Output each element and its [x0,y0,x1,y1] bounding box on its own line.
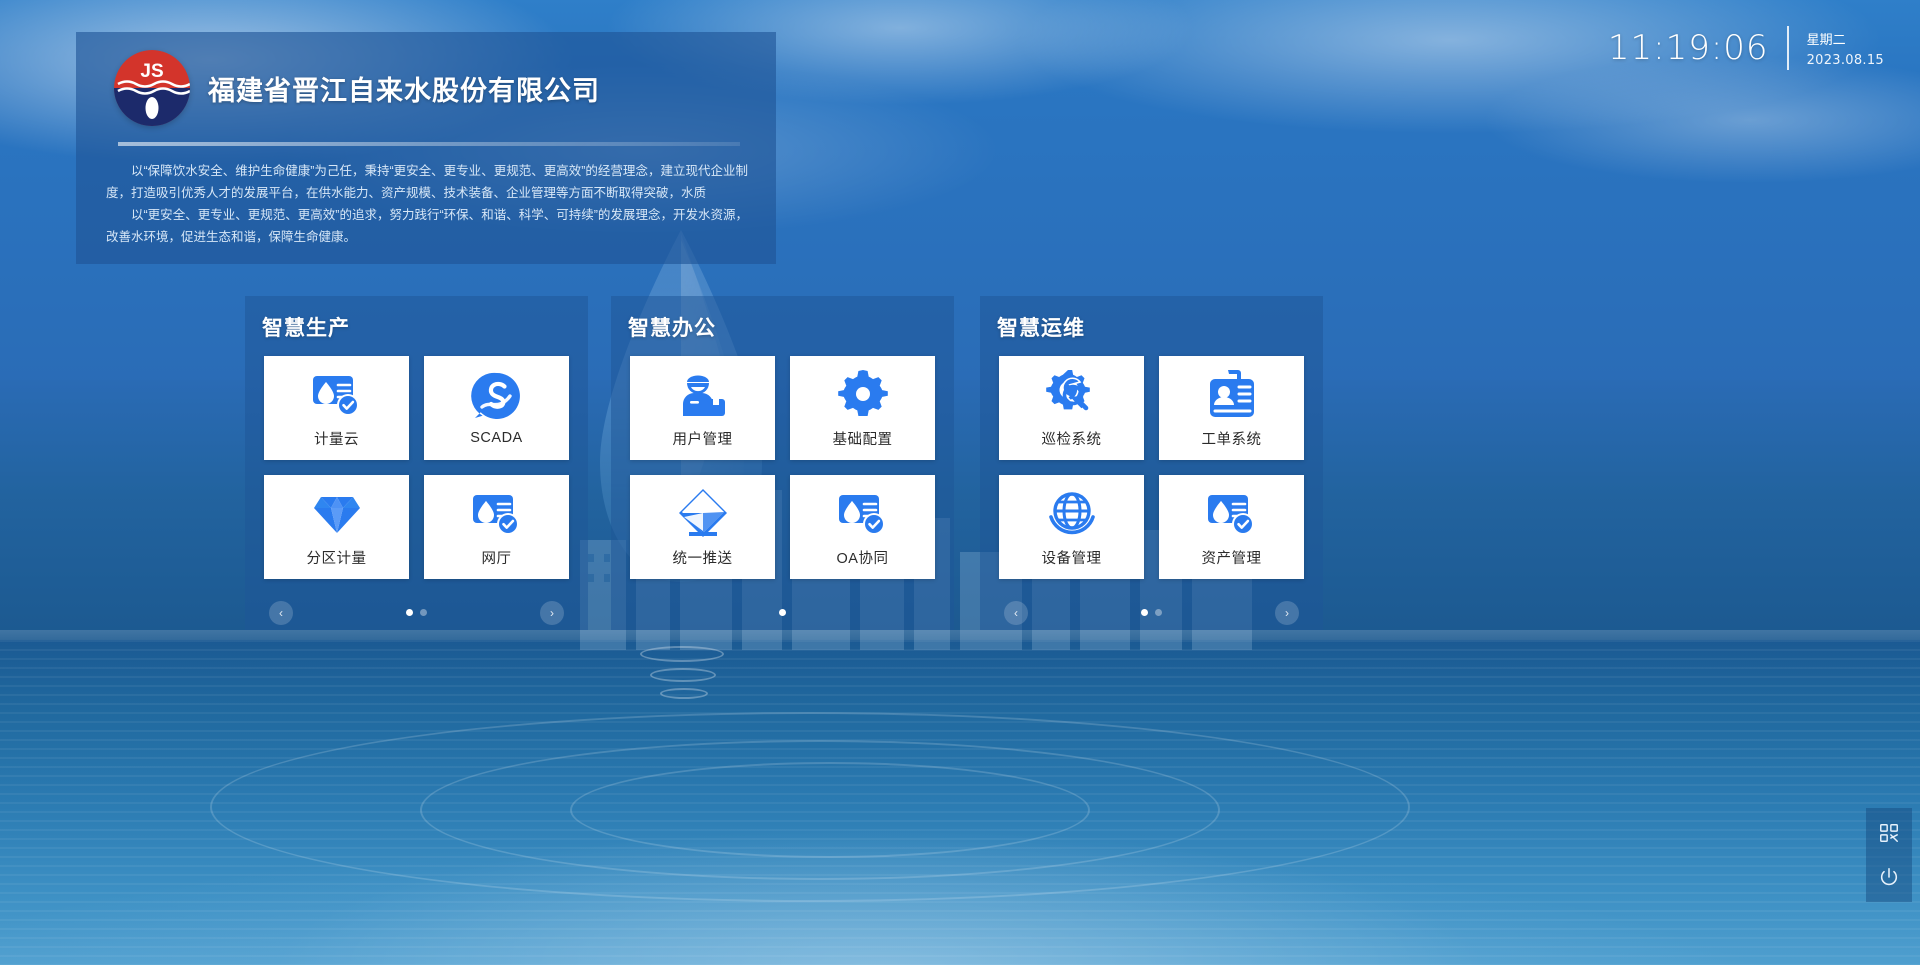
background-water [0,640,1920,965]
clock-divider [1787,26,1789,70]
tile-grid: 用户管理 基础配置 统一推送 [630,356,954,579]
panel-smart-production: 智慧生产 计量云 SCADA [245,296,588,630]
clock-date: 2023.08.15 [1807,53,1884,68]
company-header: JS 福建省晋江自来水股份有限公司 [76,32,776,126]
clock-widget: 11:19:06 星期二 2023.08.15 [1608,26,1884,70]
svg-text:JS: JS [140,61,163,82]
company-logo: JS [114,50,190,126]
app-tile-scada[interactable]: SCADA [424,356,569,460]
app-tile-label: 网厅 [482,547,512,568]
app-tile-shebeiguanli[interactable]: 设备管理 [999,475,1144,579]
pager-dots [779,609,786,616]
app-tile-label: 分区计量 [307,547,367,568]
pager-next-button[interactable]: › [1275,601,1299,625]
pager-prev-button[interactable]: ‹ [269,601,293,625]
app-tile-label: SCADA [470,430,522,446]
app-tile-jiliangyun[interactable]: 计量云 [264,356,409,460]
pager-dot[interactable] [779,609,786,616]
drop-ripple-1 [640,646,724,662]
app-tile-jichupeizhi[interactable]: 基础配置 [790,356,935,460]
user-manage-icon [677,368,729,420]
panel-smart-office: 智慧办公 用户管理 基础配置 [611,296,954,630]
globe-icon [1046,487,1098,539]
app-tile-fenqujiliang[interactable]: 分区计量 [264,475,409,579]
app-tile-label: 工单系统 [1202,428,1262,449]
app-tile-label: 基础配置 [833,428,893,449]
tile-grid: 计量云 SCADA 分区计量 [264,356,588,579]
id-badge-icon [1206,368,1258,420]
app-tile-label: 巡检系统 [1042,428,1102,449]
panel-title: 智慧办公 [611,296,954,342]
app-tile-label: OA协同 [837,547,889,568]
water-card-check-icon [311,368,363,420]
send-envelope-icon [677,487,729,539]
water-card-check-icon [471,487,523,539]
app-tile-gongdanxitong[interactable]: 工单系统 [1159,356,1304,460]
app-tile-tongyituisong[interactable]: 统一推送 [630,475,775,579]
gear-icon [837,368,889,420]
company-description: 以“保障饮水安全、维护生命健康”为己任，秉持“更安全、更专业、更规范、更高效”的… [106,160,748,248]
diamond-icon [311,487,363,539]
drop-ripple-2 [650,668,716,682]
pager-prev-button[interactable]: ‹ [1004,601,1028,625]
panel-title: 智慧生产 [245,296,588,342]
tile-grid: 巡检系统 工单系统 设备管理 [999,356,1323,579]
pager-dot[interactable] [1155,609,1162,616]
company-description-p2: 以“更安全、更专业、更规范、更高效”的追求，努力践行“环保、和谐、科学、可持续”… [106,204,748,248]
panel-pager: ‹ › [980,609,1323,616]
app-tile-label: 设备管理 [1042,547,1102,568]
app-tile-label: 统一推送 [673,547,733,568]
pager-dot[interactable] [420,609,427,616]
clock-date-block: 星期二 2023.08.15 [1807,29,1884,68]
scada-s-icon [471,370,523,422]
drop-ripple-3 [660,688,708,699]
gear-wrench-icon [1046,368,1098,420]
pager-dots [406,609,427,616]
panel-smart-ops: 智慧运维 巡检系统 工单系统 [980,296,1323,630]
company-description-p1: 以“保障饮水安全、维护生命健康”为己任，秉持“更安全、更专业、更规范、更高效”的… [106,160,748,204]
company-intro-card: JS 福建省晋江自来水股份有限公司 以“保障饮水安全、维护生命健康”为己任，秉持… [76,32,776,264]
app-tile-label: 用户管理 [673,428,733,449]
app-tile-wangting[interactable]: 网厅 [424,475,569,579]
app-tile-oaxietong[interactable]: OA协同 [790,475,935,579]
apps-grid-icon[interactable] [1876,820,1902,846]
pager-dot[interactable] [406,609,413,616]
app-tile-label: 计量云 [314,428,359,449]
pager-dots [1141,609,1162,616]
app-tile-xunjianxitong[interactable]: 巡检系统 [999,356,1144,460]
pager-dot[interactable] [1141,609,1148,616]
app-tile-zichanguanli[interactable]: 资产管理 [1159,475,1304,579]
app-tile-yonghuguanli[interactable]: 用户管理 [630,356,775,460]
water-card-check-icon [837,487,889,539]
company-name: 福建省晋江自来水股份有限公司 [208,69,600,108]
water-card-check-icon [1206,487,1258,539]
side-dock [1866,808,1912,902]
clock-time: 11:19:06 [1608,28,1769,68]
header-divider [118,142,740,146]
panel-pager [611,609,954,616]
pager-next-button[interactable]: › [540,601,564,625]
power-icon[interactable] [1876,864,1902,890]
panel-pager: ‹ › [245,609,588,616]
app-tile-label: 资产管理 [1202,547,1262,568]
panel-title: 智慧运维 [980,296,1323,342]
clock-weekday: 星期二 [1807,29,1884,48]
